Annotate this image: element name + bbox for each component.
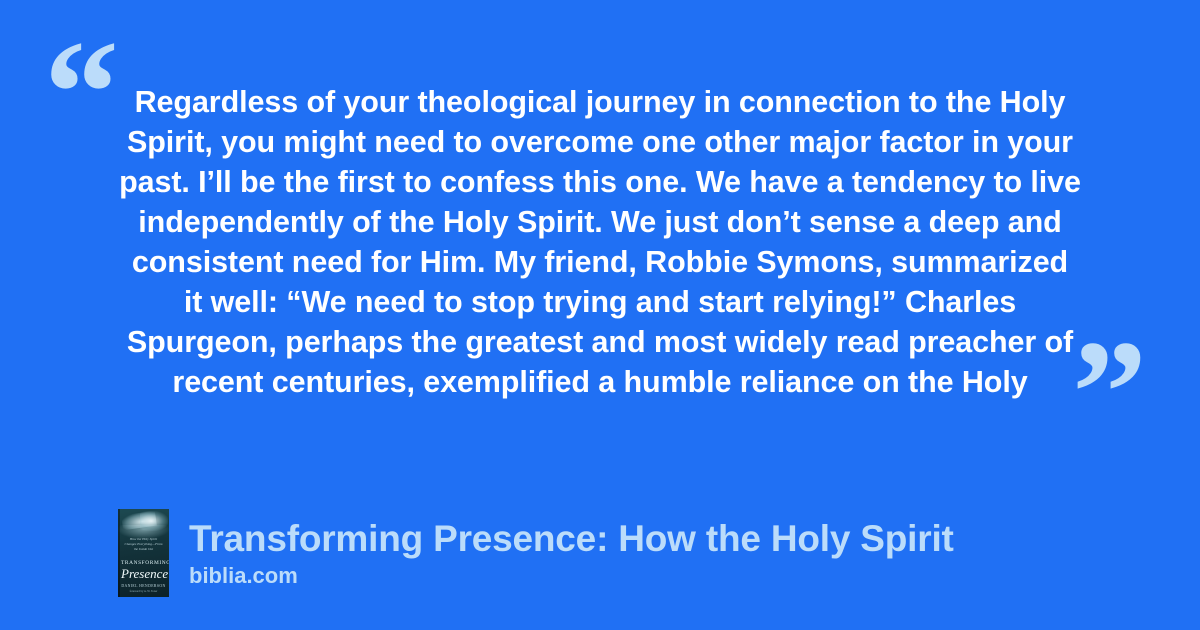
quote-line: Spurgeon, perhaps the greatest and most … (100, 322, 1100, 362)
cover-cloud-right (140, 511, 168, 531)
footer-text-group: Transforming Presence: How the Holy Spir… (189, 517, 954, 590)
source-domain: biblia.com (189, 562, 954, 590)
quote-line: it well: “We need to stop trying and sta… (100, 282, 1100, 322)
footer: How the Holy Spirit Changes Everything—F… (118, 505, 1158, 601)
quote-line: past. I’ll be the first to confess this … (100, 162, 1100, 202)
quote-line: Regardless of your theological journey i… (100, 82, 1100, 122)
cover-spine (118, 509, 120, 597)
quote-line: consistent need for Him. My friend, Robb… (100, 242, 1100, 282)
quote-card: “ Regardless of your theological journey… (0, 0, 1200, 630)
cover-subtitle: How the Holy Spirit Changes Everything—F… (124, 537, 163, 552)
quote-line: recent centuries, exemplified a humble r… (100, 362, 1100, 402)
quote-line: Spirit, you might need to overcome one o… (100, 122, 1100, 162)
cover-title-line2: Presence (121, 567, 166, 580)
quote-line: independently of the Holy Spirit. We jus… (100, 202, 1100, 242)
book-title: Transforming Presence: How the Holy Spir… (189, 517, 954, 561)
cover-foreword: foreword by A. W. Tozer (121, 590, 166, 593)
quote-text-block: Regardless of your theological journey i… (100, 82, 1100, 402)
book-cover-thumbnail: How the Holy Spirit Changes Everything—F… (118, 509, 169, 597)
closing-quote-icon: ” (1072, 318, 1147, 468)
cover-author: DANIEL HENDERSON (121, 584, 166, 588)
